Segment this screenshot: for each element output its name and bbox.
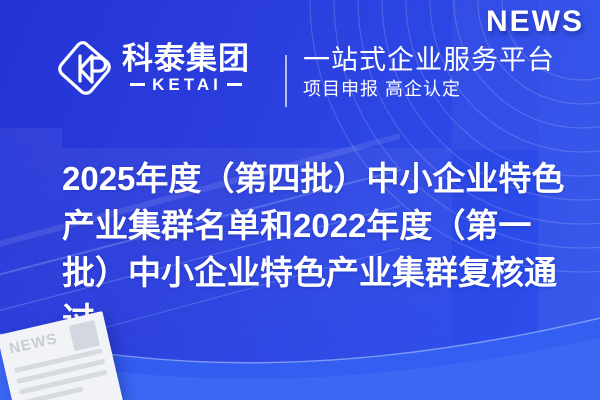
brand-name-cn: 科泰集团 [122, 43, 250, 74]
brand-name-en: KETAI [150, 76, 222, 93]
background-panel-left [0, 128, 62, 400]
ketai-diamond-kp-emblem-icon [58, 40, 112, 96]
vertical-divider [285, 55, 287, 107]
news-badge: NEWS [486, 4, 584, 40]
banner-header: 科泰集团 KETAI 一站式企业服务平台 项目申报 高企认定 NEWS [0, 0, 600, 132]
news-banner: 科泰集团 KETAI 一站式企业服务平台 项目申报 高企认定 NEWS 2025… [0, 0, 600, 400]
wordmark-dash-right [227, 83, 242, 86]
headline-title: 2025年度（第四批）中小企业特色产业集群名单和2022年度（第一批）中小企业特… [62, 156, 574, 343]
tagline-block: 一站式企业服务平台 项目申报 高企认定 [303, 46, 555, 100]
tagline-main: 一站式企业服务平台 [303, 46, 555, 76]
brand-name-en-row: KETAI [130, 76, 242, 93]
brand-logo[interactable]: 科泰集团 KETAI [58, 40, 250, 96]
tagline-sub: 项目申报 高企认定 [303, 79, 555, 101]
brand-wordmark: 科泰集团 KETAI [122, 43, 250, 93]
wordmark-dash-left [130, 83, 145, 86]
